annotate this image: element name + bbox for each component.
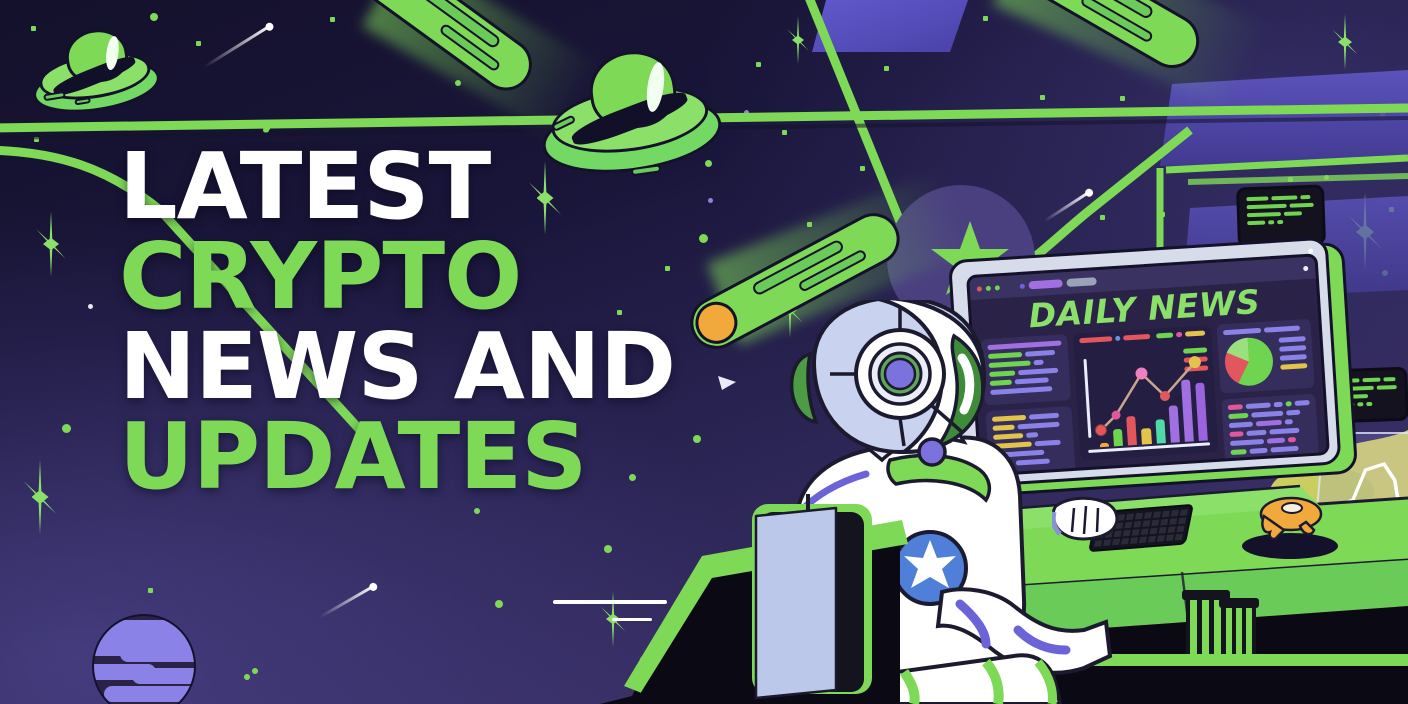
headline-line-3: NEWS AND [119,322,675,412]
headline-line-2: CRYPTO [119,232,675,322]
astronaut-glove [1052,494,1124,546]
hero-banner: DAILY NEWS [0,0,1408,704]
headline-line-1: LATEST [119,142,675,232]
page-title: LATEST CRYPTO NEWS AND UPDATES [119,142,675,503]
headline-line-4: UPDATES [119,412,675,502]
